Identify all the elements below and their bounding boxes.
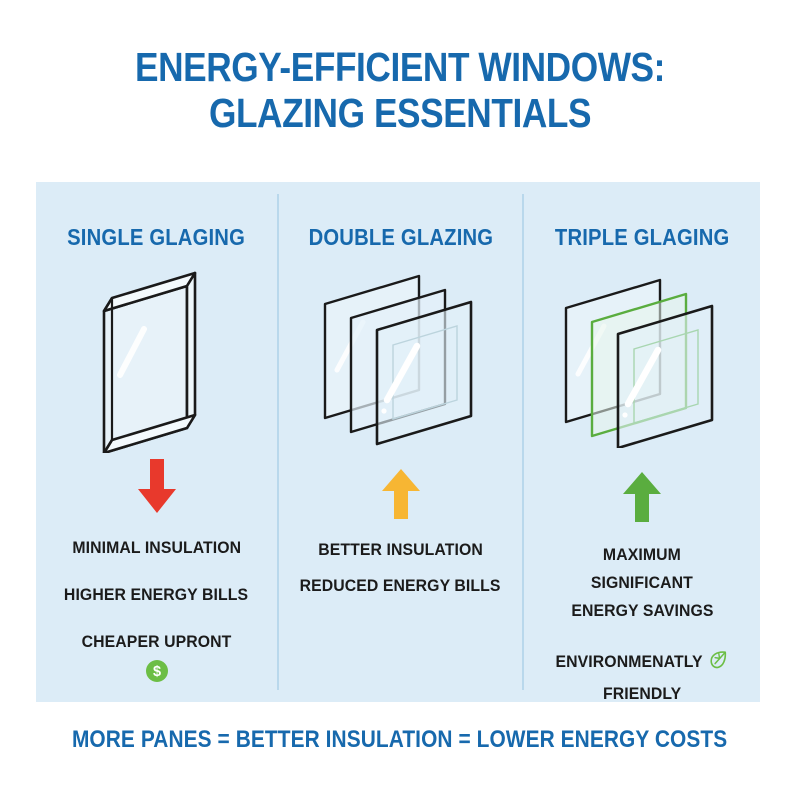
single-pane-glass-icon — [82, 263, 232, 453]
benefit-item: HIGHER ENERGY BILLS — [64, 586, 248, 603]
up-arrow-icon — [379, 467, 423, 523]
page-title: ENERGY-EFFICIENT WINDOWS: GLAZING ESSENT… — [0, 44, 800, 136]
column-single-glazing: SINGLE GLAGING — [36, 182, 277, 702]
footer-summary-text: MORE PANES = BETTER INSULATION = LOWER E… — [72, 727, 727, 753]
dollar-badge-icon: $ — [145, 659, 169, 688]
benefit-item: MAXIMUM — [603, 546, 681, 563]
page-title-line-1: ENERGY-EFFICIENT WINDOWS: — [56, 44, 744, 90]
column-heading-double: DOUBLE GLAZING — [308, 226, 493, 249]
page-title-line-2: GLAZING ESSENTIALS — [56, 90, 744, 136]
double-pane-glass-icon — [311, 263, 491, 453]
triple-pane-glass-icon — [552, 263, 732, 452]
column-triple-glazing: TRIPLE GLAGING — [524, 182, 760, 702]
benefit-item: ENERGY SAVINGS — [571, 602, 713, 619]
footer-summary: MORE PANES = BETTER INSULATION = LOWER E… — [0, 727, 800, 753]
svg-text:$: $ — [152, 664, 160, 680]
column-heading-single: SINGLE GLAGING — [68, 226, 246, 249]
benefit-item: MINIMAL INSULATION — [72, 539, 241, 556]
up-arrow-icon — [620, 470, 664, 526]
benefits-triple: MAXIMUM SIGNIFICANT ENERGY SAVINGS ENVIR… — [524, 526, 760, 702]
benefit-item: REDUCED ENERGY BILLS — [300, 577, 501, 594]
benefit-item-eco: ENVIRONMENATLY — [555, 649, 728, 674]
benefit-item-label: ENVIRONMENATLY — [555, 653, 702, 670]
benefits-single: MINIMAL INSULATION HIGHER ENERGY BILLS C… — [36, 515, 277, 688]
leaf-icon — [708, 649, 728, 674]
benefit-item: CHEAPER UPRONT — [82, 633, 232, 650]
column-heading-triple: TRIPLE GLAGING — [555, 226, 730, 249]
column-double-glazing: DOUBLE GLAZING — [279, 182, 522, 702]
comparison-panel: SINGLE GLAGING — [36, 182, 760, 702]
benefit-item: SIGNIFICANT — [591, 574, 693, 591]
benefit-item: FRIENDLY — [603, 685, 681, 702]
benefit-item: BETTER INSULATION — [318, 541, 483, 558]
down-arrow-icon — [135, 459, 179, 515]
benefits-double: BETTER INSULATION REDUCED ENERGY BILLS — [279, 523, 522, 594]
infographic-root: ENERGY-EFFICIENT WINDOWS: GLAZING ESSENT… — [0, 0, 800, 800]
